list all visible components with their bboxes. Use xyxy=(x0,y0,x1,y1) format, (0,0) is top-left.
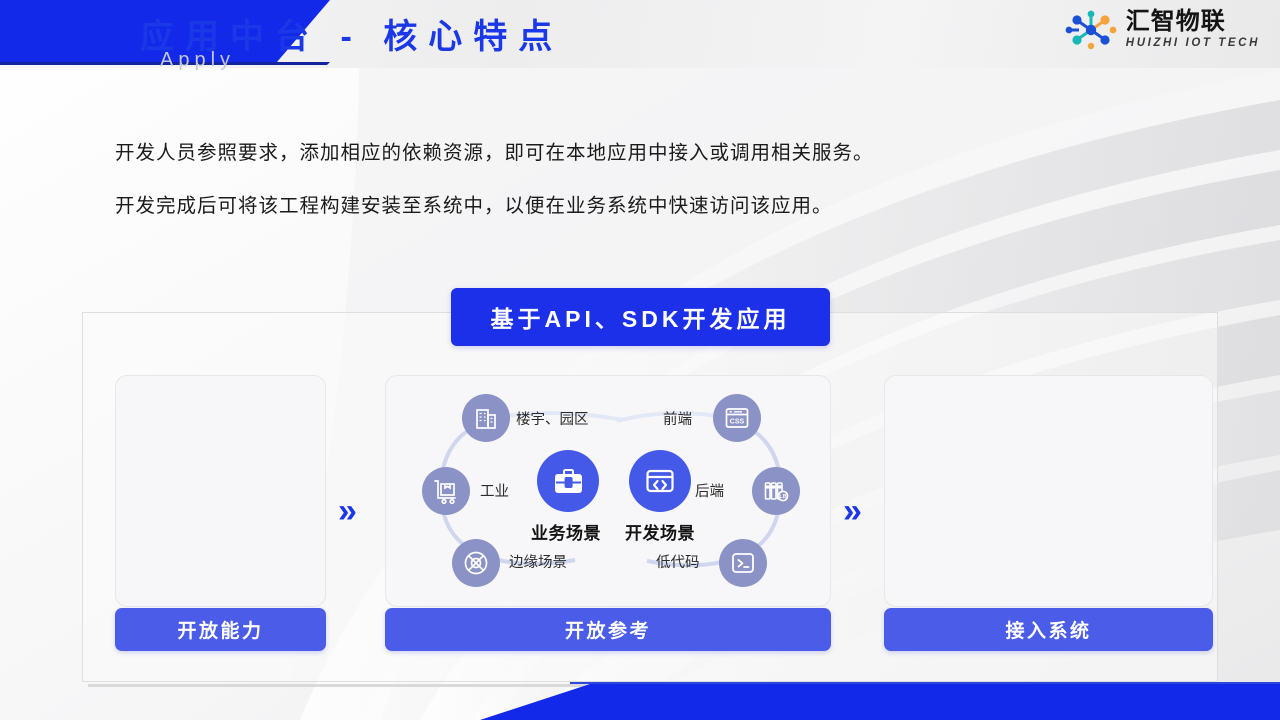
hub-business-scenario[interactable] xyxy=(537,450,599,512)
open-reference-button[interactable]: 开放参考 xyxy=(385,608,831,651)
satellite-edge[interactable] xyxy=(452,539,500,587)
intro-text-block: 开发人员参照要求，添加相应的依赖资源，即可在本地应用中接入或调用相关服务。 开发… xyxy=(115,136,874,242)
button-label: 接入系统 xyxy=(1005,616,1091,643)
brand-name-en: HUIZHI IOT TECH xyxy=(1126,38,1260,50)
panel-open-capability xyxy=(115,375,326,607)
access-system-button[interactable]: 接入系统 xyxy=(884,608,1213,651)
brand-logo: 汇智物联 HUIZHI IOT TECH xyxy=(1065,8,1260,52)
satellite-backend-label: 后端 xyxy=(695,480,724,501)
panel-access-system xyxy=(884,375,1213,607)
intro-line-1: 开发人员参照要求，添加相应的依赖资源，即可在本地应用中接入或调用相关服务。 xyxy=(115,136,874,165)
hub-dev-scenario-label: 开发场景 xyxy=(625,519,695,544)
footer-gray-rule xyxy=(88,684,608,687)
satellite-industry[interactable] xyxy=(422,467,470,515)
scenario-rings: 楼宇、园区 工业 边缘场景 xyxy=(385,375,831,607)
hub-dev-scenario[interactable] xyxy=(629,450,691,512)
button-label: 开放能力 xyxy=(177,616,263,643)
satellite-industry-label: 工业 xyxy=(480,480,509,501)
brand-name-cn: 汇智物联 xyxy=(1126,10,1260,34)
satellite-building[interactable] xyxy=(462,394,510,442)
satellite-frontend-label: 前端 xyxy=(663,408,692,429)
slide-header: 应用中台 - 核心特点 Apply xyxy=(0,0,1280,68)
svg-text:LB: LB xyxy=(779,494,786,500)
brand-logo-text: 汇智物联 HUIZHI IOT TECH xyxy=(1126,10,1260,50)
satellite-edge-label: 边缘场景 xyxy=(509,551,567,572)
molecule-network-icon xyxy=(1065,8,1117,52)
satellite-building-label: 楼宇、园区 xyxy=(516,408,589,429)
open-capability-button[interactable]: 开放能力 xyxy=(115,608,326,651)
diagram-banner: 基于API、SDK开发应用 xyxy=(451,288,830,346)
hub-business-scenario-label: 业务场景 xyxy=(531,519,601,544)
slide-footer xyxy=(0,678,1280,720)
button-label: 开放参考 xyxy=(565,616,651,643)
double-chevron-right-icon: » xyxy=(843,492,862,531)
page-subtitle: Apply xyxy=(160,49,235,72)
footer-blue-rule xyxy=(570,682,1280,684)
satellite-backend[interactable]: LB xyxy=(752,467,800,515)
double-chevron-right-icon: » xyxy=(338,492,357,531)
footer-accent-parallelogram xyxy=(480,684,1280,720)
diagram-banner-label: 基于API、SDK开发应用 xyxy=(491,300,791,334)
intro-line-2: 开发完成后可将该工程构建安装至系统中，以便在业务系统中快速访问该应用。 xyxy=(115,189,874,218)
satellite-lowcode-label: 低代码 xyxy=(656,551,700,572)
satellite-lowcode[interactable] xyxy=(719,539,767,587)
svg-text:CSS: CSS xyxy=(730,419,745,426)
satellite-frontend[interactable]: CSS xyxy=(713,394,761,442)
slide-root: 应用中台 - 核心特点 Apply xyxy=(0,0,1280,720)
